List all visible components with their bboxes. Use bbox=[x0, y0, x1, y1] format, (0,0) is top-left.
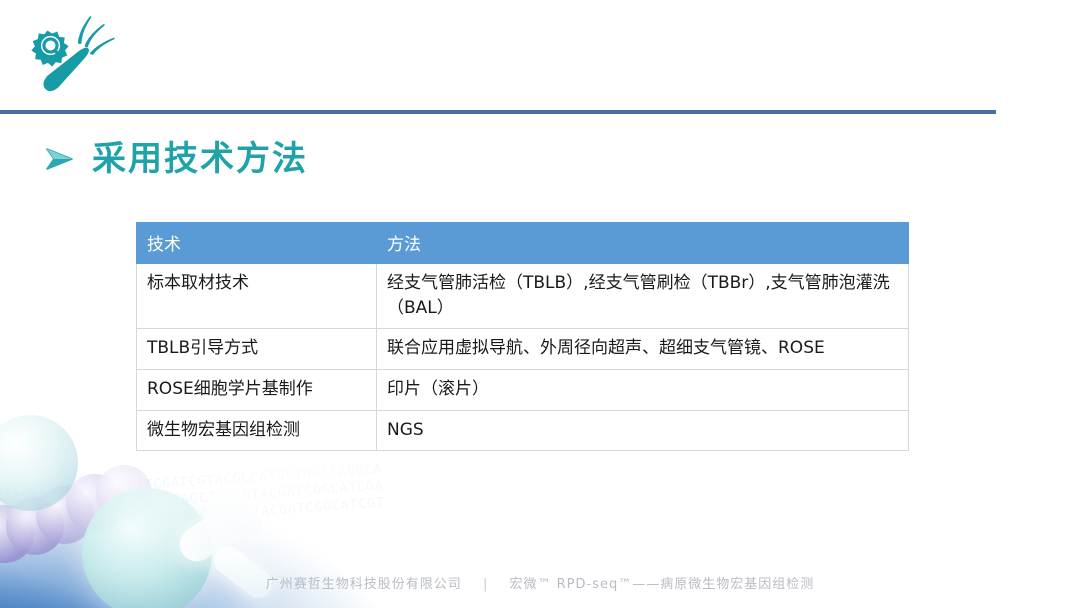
cell-technology: 标本取材技术 bbox=[137, 264, 377, 329]
table-body: 标本取材技术 经支气管肺活检（TBLB）,经支气管刷检（TBBr）,支气管肺泡灌… bbox=[137, 264, 909, 451]
bacteria-chain-cell bbox=[66, 474, 124, 532]
page-title: 采用技术方法 bbox=[44, 142, 308, 176]
table-row: TBLB引导方式 联合应用虚拟导航、外周径向超声、超细支气管镜、ROSE bbox=[137, 329, 909, 370]
cell-technology: 微生物宏基因组检测 bbox=[137, 410, 377, 451]
cell-method: 印片（滚片） bbox=[377, 369, 909, 410]
technology-method-table: 技术 方法 标本取材技术 经支气管肺活检（TBLB）,经支气管刷检（TBBr）,… bbox=[136, 222, 909, 451]
cell-method: 联合应用虚拟导航、外周径向超声、超细支气管镜、ROSE bbox=[377, 329, 909, 370]
header-divider bbox=[0, 110, 996, 114]
arrow-bullet-icon bbox=[44, 145, 74, 173]
slide-header bbox=[0, 0, 1080, 113]
slide-root: GCTAGCGTACGATCGGCATCGATCGTACGGCATGCTAGCT… bbox=[0, 0, 1080, 608]
bacteria-sphere bbox=[0, 415, 78, 511]
page-title-text: 采用技术方法 bbox=[92, 142, 308, 176]
bacteria-chain-cell bbox=[96, 465, 152, 521]
bacteria-chain-cell bbox=[0, 505, 34, 563]
cell-method: NGS bbox=[377, 410, 909, 451]
bacteria-rod bbox=[173, 496, 257, 568]
bacteria-chain-cell bbox=[6, 497, 64, 555]
table-header-row: 技术 方法 bbox=[137, 223, 909, 264]
bacteria-rod bbox=[204, 481, 268, 544]
microbe-gear-logo-icon bbox=[14, 16, 122, 102]
cell-technology: TBLB引导方式 bbox=[137, 329, 377, 370]
table-header: 技术 方法 bbox=[137, 223, 909, 264]
footer-separator: | bbox=[467, 577, 504, 592]
column-header-technology: 技术 bbox=[137, 223, 377, 264]
bacteria-rod bbox=[208, 541, 277, 604]
cell-method: 经支气管肺活检（TBLB）,经支气管刷检（TBBr）,支气管肺泡灌洗（BAL） bbox=[377, 264, 909, 329]
table-row: ROSE细胞学片基制作 印片（滚片） bbox=[137, 369, 909, 410]
footer-company: 广州赛哲生物科技股份有限公司 bbox=[266, 577, 462, 592]
column-header-method: 方法 bbox=[377, 223, 909, 264]
table-row: 微生物宏基因组检测 NGS bbox=[137, 410, 909, 451]
table-row: 标本取材技术 经支气管肺活检（TBLB）,经支气管刷检（TBBr）,支气管肺泡灌… bbox=[137, 264, 909, 329]
bacteria-chain-cell bbox=[36, 486, 94, 544]
footer-product: 宏微™ RPD-seq™——病原微生物宏基因组检测 bbox=[509, 577, 814, 592]
slide-footer: 广州赛哲生物科技股份有限公司 | 宏微™ RPD-seq™——病原微生物宏基因组… bbox=[0, 573, 1080, 592]
cell-technology: ROSE细胞学片基制作 bbox=[137, 369, 377, 410]
